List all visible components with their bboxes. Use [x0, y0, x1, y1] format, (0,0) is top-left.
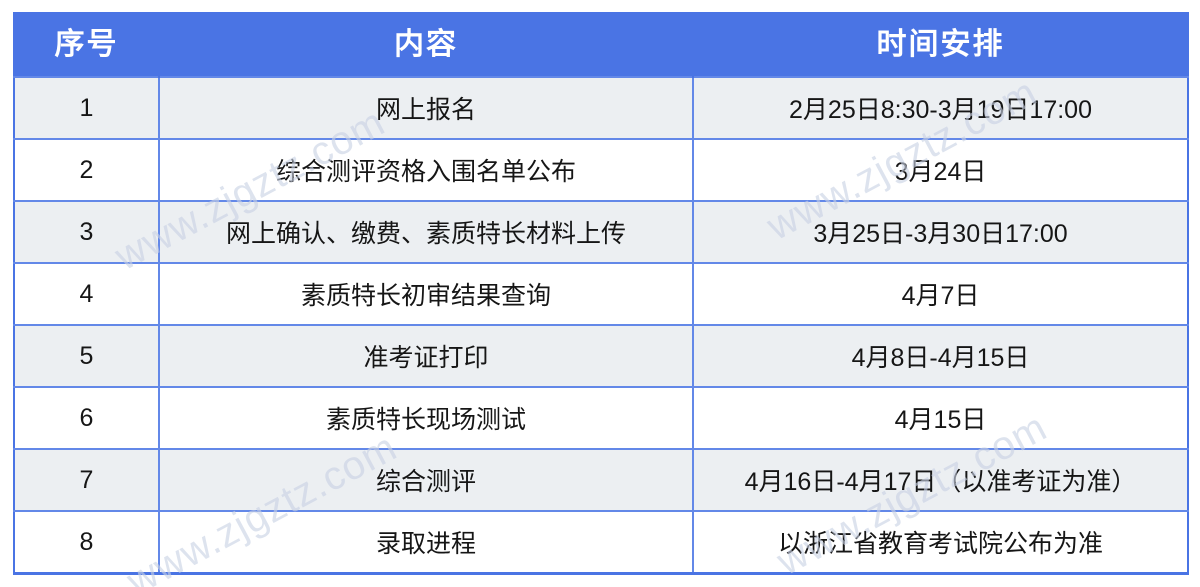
- cell-seq: 8: [14, 511, 159, 574]
- table-row: 5 准考证打印 4月8日-4月15日: [14, 325, 1188, 387]
- table-row: 1 网上报名 2月25日8:30-3月19日17:00: [14, 77, 1188, 139]
- cell-time: 4月8日-4月15日: [693, 325, 1188, 387]
- table-row: 6 素质特长现场测试 4月15日: [14, 387, 1188, 449]
- cell-content: 素质特长现场测试: [159, 387, 693, 449]
- cell-time: 3月24日: [693, 139, 1188, 201]
- table-header: 序号 内容 时间安排: [14, 13, 1188, 77]
- cell-seq: 3: [14, 201, 159, 263]
- cell-content: 综合测评资格入围名单公布: [159, 139, 693, 201]
- schedule-table-container: 序号 内容 时间安排 1 网上报名 2月25日8:30-3月19日17:00 2…: [13, 12, 1187, 575]
- cell-seq: 5: [14, 325, 159, 387]
- cell-time: 4月16日-4月17日（以准考证为准）: [693, 449, 1188, 511]
- cell-seq: 6: [14, 387, 159, 449]
- cell-time: 3月25日-3月30日17:00: [693, 201, 1188, 263]
- cell-seq: 4: [14, 263, 159, 325]
- cell-content: 准考证打印: [159, 325, 693, 387]
- schedule-table: 序号 内容 时间安排 1 网上报名 2月25日8:30-3月19日17:00 2…: [13, 12, 1189, 575]
- table-row: 7 综合测评 4月16日-4月17日（以准考证为准）: [14, 449, 1188, 511]
- cell-content: 综合测评: [159, 449, 693, 511]
- column-header-time: 时间安排: [693, 13, 1188, 77]
- table-row: 4 素质特长初审结果查询 4月7日: [14, 263, 1188, 325]
- table-body: 1 网上报名 2月25日8:30-3月19日17:00 2 综合测评资格入围名单…: [14, 77, 1188, 574]
- table-row: 2 综合测评资格入围名单公布 3月24日: [14, 139, 1188, 201]
- cell-time: 4月15日: [693, 387, 1188, 449]
- cell-content: 录取进程: [159, 511, 693, 574]
- cell-seq: 1: [14, 77, 159, 139]
- cell-seq: 7: [14, 449, 159, 511]
- cell-content: 网上确认、缴费、素质特长材料上传: [159, 201, 693, 263]
- column-header-seq: 序号: [14, 13, 159, 77]
- cell-content: 素质特长初审结果查询: [159, 263, 693, 325]
- cell-time: 2月25日8:30-3月19日17:00: [693, 77, 1188, 139]
- table-row: 3 网上确认、缴费、素质特长材料上传 3月25日-3月30日17:00: [14, 201, 1188, 263]
- table-row: 8 录取进程 以浙江省教育考试院公布为准: [14, 511, 1188, 574]
- cell-content: 网上报名: [159, 77, 693, 139]
- schedule-table-page: 序号 内容 时间安排 1 网上报名 2月25日8:30-3月19日17:00 2…: [0, 0, 1200, 587]
- cell-time: 以浙江省教育考试院公布为准: [693, 511, 1188, 574]
- table-header-row: 序号 内容 时间安排: [14, 13, 1188, 77]
- cell-seq: 2: [14, 139, 159, 201]
- column-header-content: 内容: [159, 13, 693, 77]
- cell-time: 4月7日: [693, 263, 1188, 325]
